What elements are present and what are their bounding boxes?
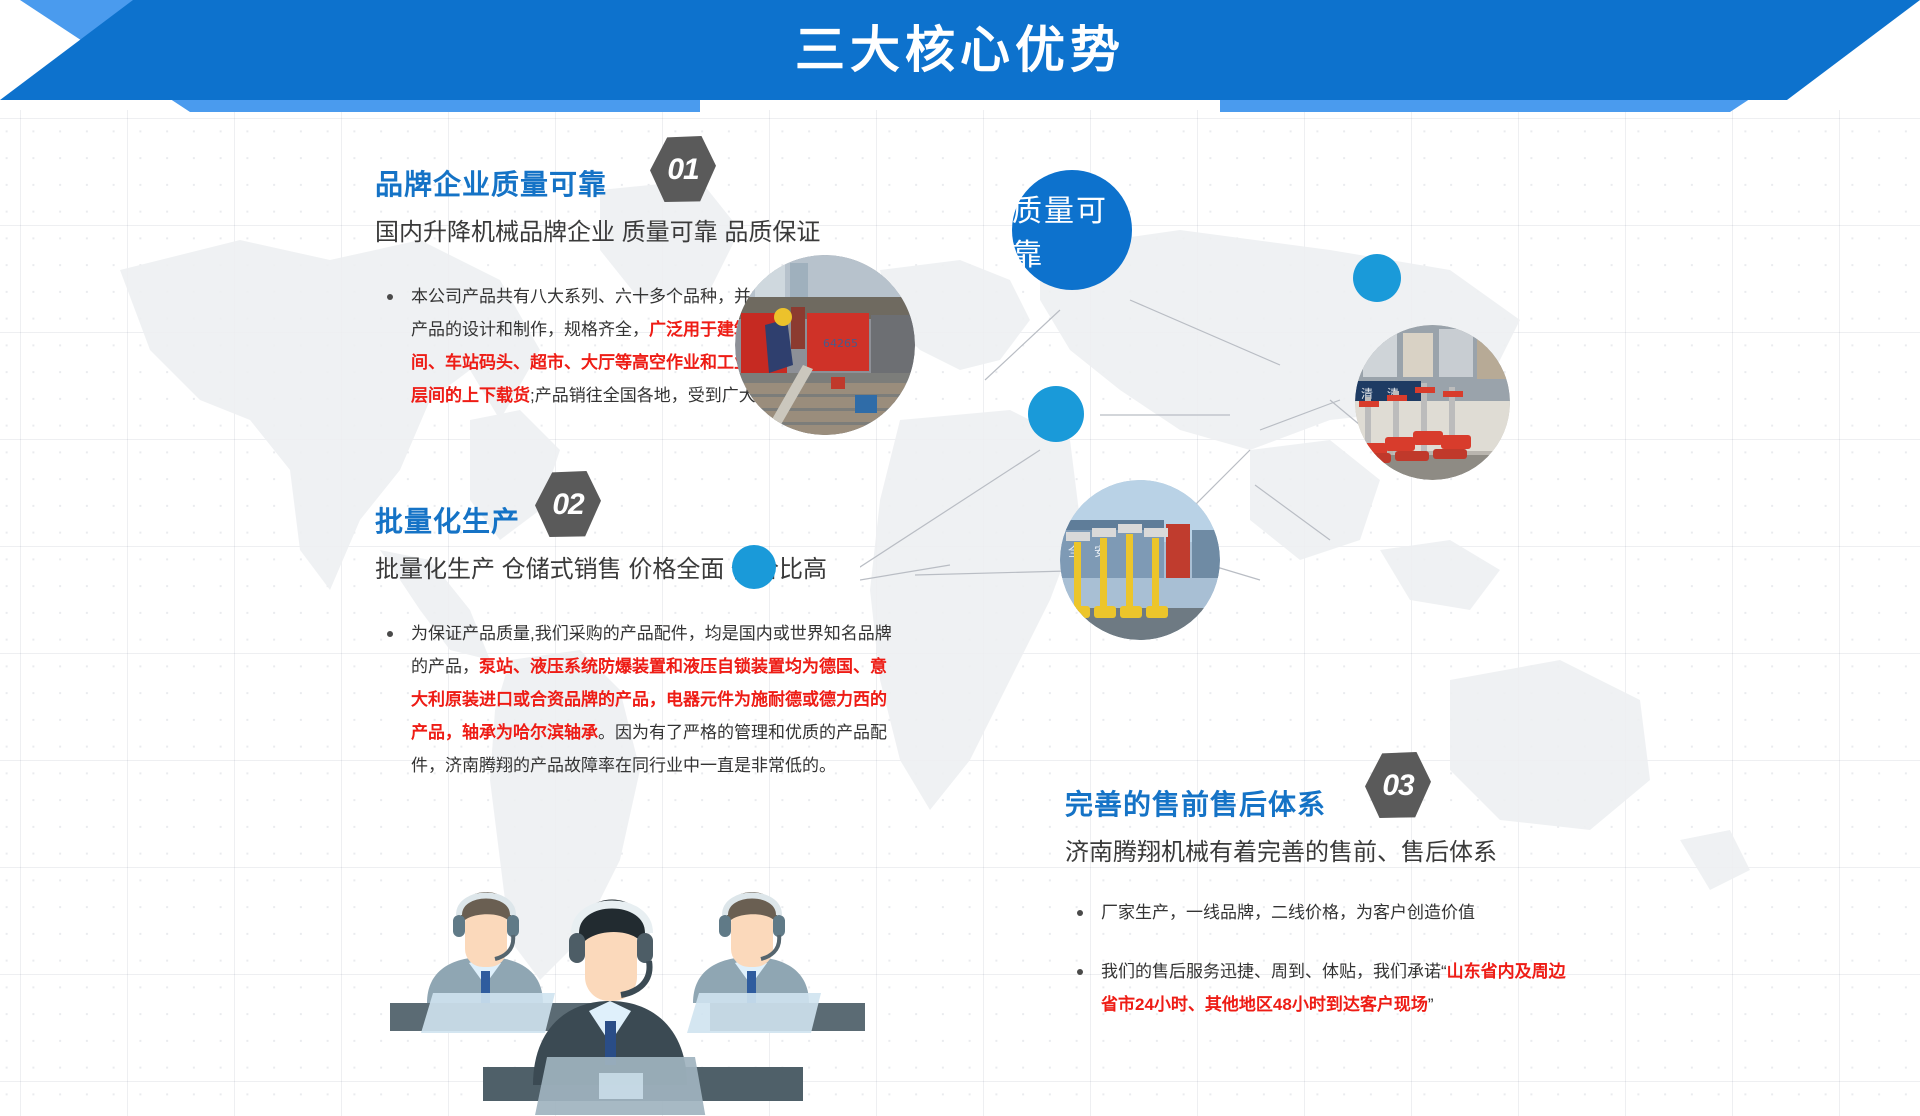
network-dot-center <box>1028 386 1084 442</box>
feature-bullet-list: 为保证产品质量,我们采购的产品配件，均是国内或世界知名品牌的产品，泵站、液压系统… <box>375 617 895 782</box>
network-node-label: 质量可靠 <box>1012 186 1132 274</box>
network-diagram: 质量可靠 64265 <box>860 150 1560 630</box>
feature-heading-row: 完善的售前售后体系 03 <box>1065 780 1575 832</box>
feature-heading-row: 批量化生产 02 <box>375 497 895 549</box>
feature-subtitle: 济南腾翔机械有着完善的售前、售后体系 <box>1065 834 1575 872</box>
feature-subtitle: 国内升降机械品牌企业 质量可靠 品质保证 <box>375 214 895 252</box>
list-item: 厂家生产，一线品牌，二线价格，为客户创造价值 <box>1065 896 1575 929</box>
feature-bullet-list: 厂家生产，一线品牌，二线价格，为客户创造价值 我们的售后服务迅捷、周到、体贴，我… <box>1065 896 1575 1021</box>
feature-title: 品牌企业质量可靠 <box>375 169 607 200</box>
feature-subtitle: 批量化生产 仓储式销售 价格全面 性价比高 <box>375 551 895 589</box>
network-dot-right <box>1353 254 1401 302</box>
page-banner: 三大核心优势 <box>0 0 1920 112</box>
agent-right <box>687 892 821 1033</box>
feature-title: 完善的售前售后体系 <box>1065 789 1326 820</box>
network-dot-left <box>732 545 776 589</box>
list-item: 为保证产品质量,我们采购的产品配件，均是国内或世界知名品牌的产品，泵站、液压系统… <box>375 617 895 782</box>
page-title: 三大核心优势 <box>0 0 1920 100</box>
network-node-quality: 质量可靠 <box>1012 170 1132 290</box>
yellow-lift-yard-photo: 全安 <box>1060 480 1220 640</box>
bullet-text-plain-b: ” <box>1428 995 1434 1014</box>
svg-text:64265: 64265 <box>823 337 858 350</box>
agent-left <box>421 892 555 1033</box>
page-root: 三大核心优势 品牌企业质量可靠 01 国内升降机械品牌企业 质量可靠 品质保证 … <box>0 0 1920 1116</box>
bullet-text-plain-a: 厂家生产，一线品牌，二线价格，为客户创造价值 <box>1101 903 1475 922</box>
bullet-text-plain-a: 我们的售后服务迅捷、周到、体贴，我们承诺“ <box>1101 962 1447 981</box>
feature-block-service-system: 完善的售前售后体系 03 济南腾翔机械有着完善的售前、售后体系 厂家生产，一线品… <box>1065 780 1575 1047</box>
feature-title: 批量化生产 <box>375 506 520 537</box>
red-lift-display-photo: 清清 <box>1355 325 1510 480</box>
feature-heading-row: 品牌企业质量可靠 01 <box>375 160 895 212</box>
factory-workshop-photo: 64265 <box>735 255 915 435</box>
feature-block-batch-production: 批量化生产 02 批量化生产 仓储式销售 价格全面 性价比高 为保证产品质量,我… <box>375 497 895 808</box>
call-center-agents <box>355 785 865 1115</box>
list-item: 我们的售后服务迅捷、周到、体贴，我们承诺“山东省内及周边省市24小时、其他地区4… <box>1065 955 1575 1021</box>
